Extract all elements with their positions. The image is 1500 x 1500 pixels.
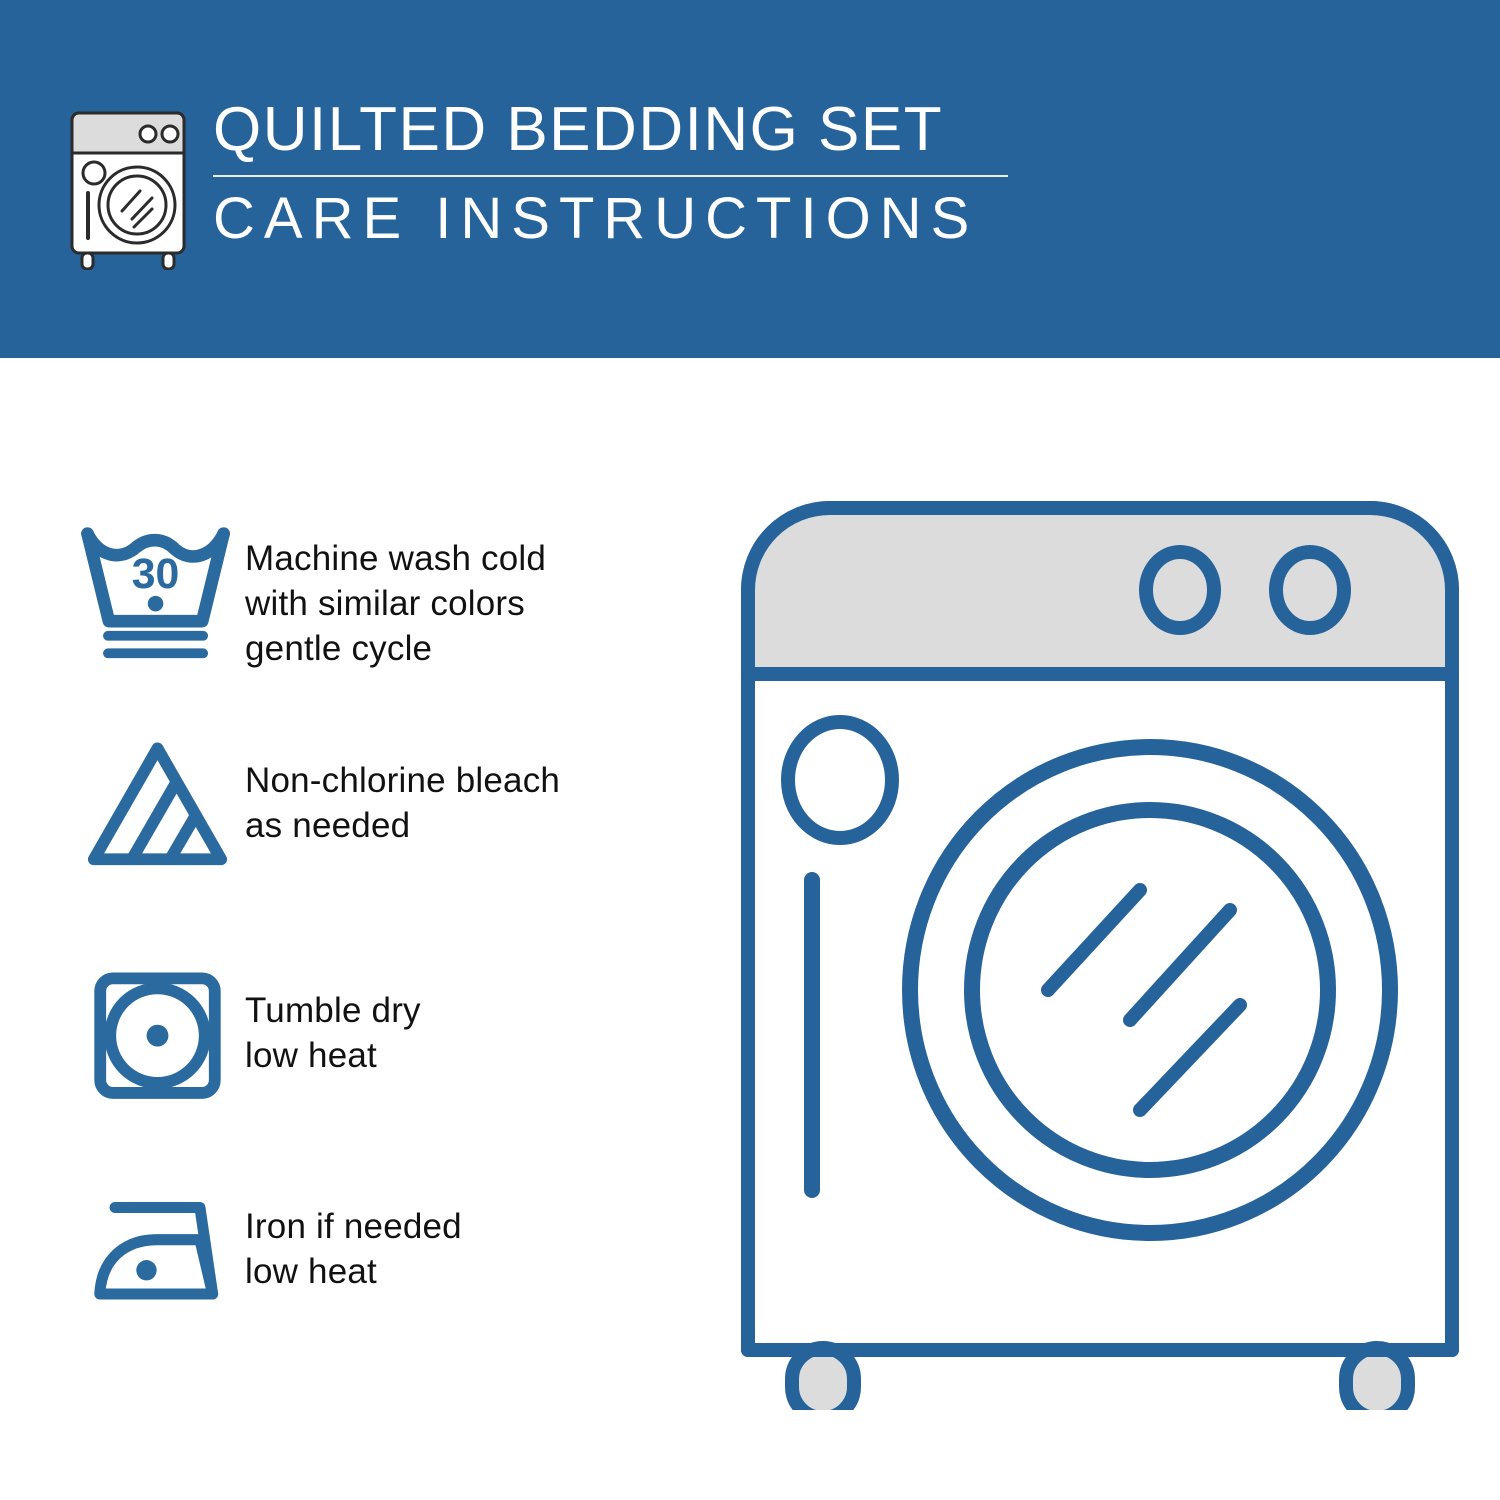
knob-1 xyxy=(1146,552,1214,628)
care-item-label: Tumble dry low heat xyxy=(245,962,421,1078)
care-item-label: Machine wash cold with similar colors ge… xyxy=(245,510,546,671)
indicator-light xyxy=(788,722,892,838)
machine-leg-left xyxy=(792,1348,854,1410)
washing-machine-icon xyxy=(62,105,194,270)
page-subtitle: CARE INSTRUCTIONS xyxy=(213,185,1033,253)
wash-temp-label: 30 xyxy=(132,550,180,598)
care-item-bleach: Non-chlorine bleach as needed xyxy=(70,732,710,882)
washing-machine-illustration xyxy=(730,490,1470,1410)
care-item-label: Non-chlorine bleach as needed xyxy=(245,732,560,848)
header-banner: QUILTED BEDDING SET CARE INSTRUCTIONS xyxy=(0,0,1500,358)
tumble-dry-icon xyxy=(70,962,245,1112)
header-text-block: QUILTED BEDDING SET CARE INSTRUCTIONS xyxy=(213,95,1033,253)
bleach-triangle-icon xyxy=(70,732,245,882)
care-item-tumble-dry: Tumble dry low heat xyxy=(70,962,710,1112)
machine-leg-right xyxy=(1346,1348,1408,1410)
page-title: QUILTED BEDDING SET xyxy=(213,95,1033,165)
care-item-label: Iron if needed low heat xyxy=(245,1182,462,1294)
care-item-iron: Iron if needed low heat xyxy=(70,1182,710,1322)
wash-tub-30-icon: 30 xyxy=(70,510,245,675)
iron-icon xyxy=(70,1182,245,1322)
title-divider xyxy=(213,175,1008,177)
knob-2 xyxy=(1276,552,1344,628)
care-item-machine-wash: 30 Machine wash cold with similar colors… xyxy=(70,510,710,675)
